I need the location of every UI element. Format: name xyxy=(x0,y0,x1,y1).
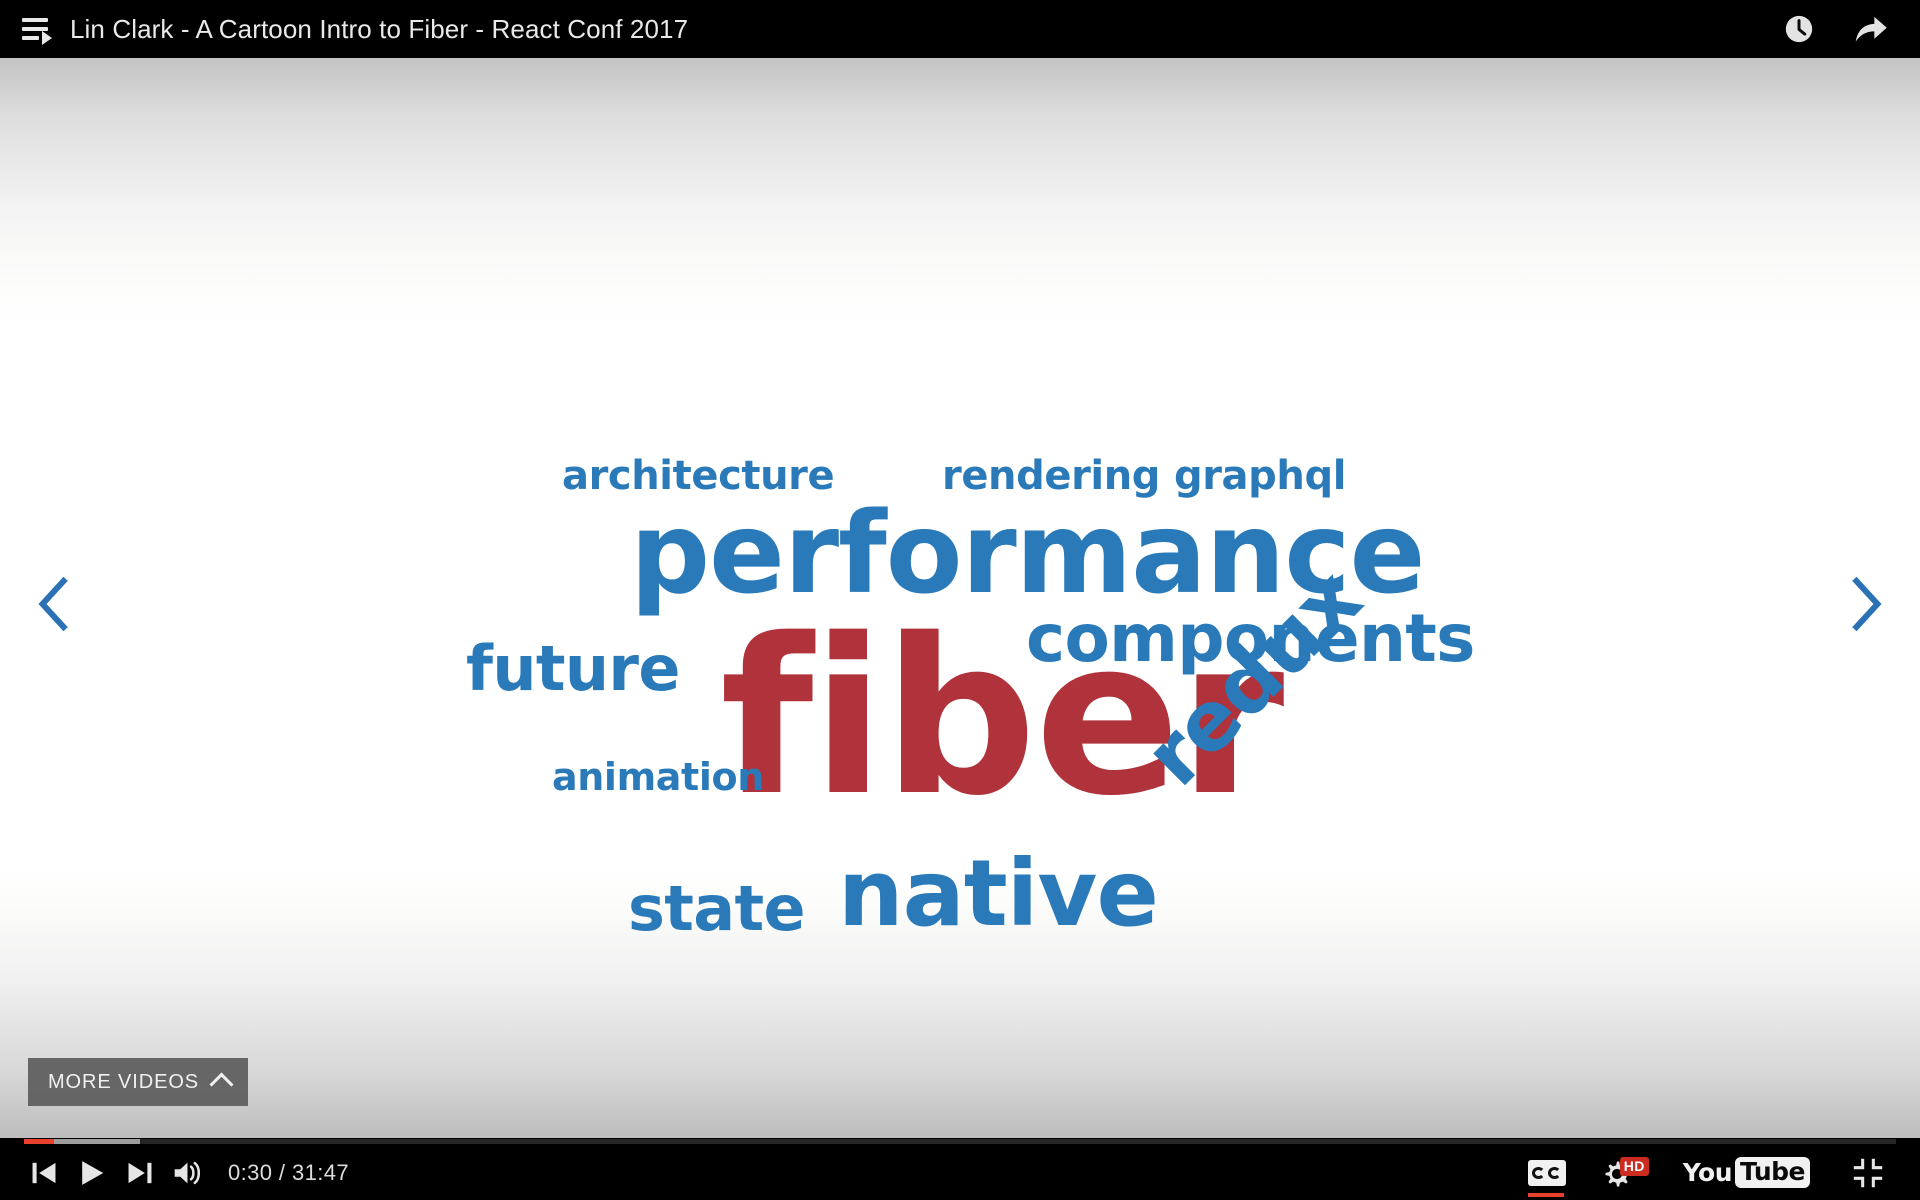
video-title[interactable]: Lin Clark - A Cartoon Intro to Fiber - R… xyxy=(70,14,688,45)
next-video-arrow[interactable] xyxy=(1830,568,1902,640)
next-button[interactable] xyxy=(116,1150,164,1196)
clock-icon xyxy=(1782,12,1816,46)
chevron-left-icon xyxy=(31,575,77,633)
more-videos-button[interactable]: MORE VIDEOS xyxy=(28,1058,248,1106)
volume-up-icon xyxy=(172,1159,204,1187)
player-title-bar: Lin Clark - A Cartoon Intro to Fiber - R… xyxy=(0,0,1920,58)
exit-fullscreen-button[interactable] xyxy=(1844,1150,1892,1196)
volume-button[interactable] xyxy=(164,1150,212,1196)
youtube-logo-button[interactable]: You Tube xyxy=(1683,1157,1810,1188)
closed-captions-icon xyxy=(1528,1160,1566,1186)
skip-previous-icon xyxy=(30,1160,58,1186)
chevron-right-icon xyxy=(1843,575,1889,633)
play-button[interactable] xyxy=(68,1150,116,1196)
video-stage[interactable]: architecturerenderinggraphqlperformancec… xyxy=(0,58,1920,1138)
play-icon xyxy=(77,1159,107,1187)
playlist-icon-bar xyxy=(22,36,39,40)
control-left-group: 0:30 / 31:47 xyxy=(0,1150,1527,1196)
quality-hd-badge: HD xyxy=(1620,1157,1649,1176)
playlist-icon-play-triangle xyxy=(42,31,52,45)
share-button[interactable] xyxy=(1850,8,1892,50)
captions-active-underline xyxy=(1528,1193,1564,1197)
more-videos-label: MORE VIDEOS xyxy=(48,1071,199,1094)
chevron-up-icon xyxy=(210,1072,234,1096)
skip-next-icon xyxy=(126,1160,154,1186)
playlist-icon[interactable] xyxy=(22,16,52,42)
previous-button[interactable] xyxy=(20,1150,68,1196)
exit-fullscreen-icon xyxy=(1852,1157,1884,1189)
time-display: 0:30 / 31:47 xyxy=(228,1160,349,1186)
progress-played xyxy=(24,1139,54,1144)
previous-video-arrow[interactable] xyxy=(18,568,90,640)
progress-track xyxy=(24,1139,1896,1144)
cc-glyph-c2 xyxy=(1548,1167,1561,1179)
captions-button[interactable] xyxy=(1527,1156,1567,1190)
watch-later-button[interactable] xyxy=(1778,8,1820,50)
player-control-bar: 0:30 / 31:47 HD You xyxy=(0,1138,1920,1200)
youtube-logo-tube: Tube xyxy=(1735,1157,1810,1188)
youtube-logo-you: You xyxy=(1683,1158,1732,1187)
share-arrow-icon xyxy=(1853,13,1889,45)
settings-button[interactable]: HD xyxy=(1601,1155,1649,1191)
word-cloud-word: native xyxy=(838,848,1158,940)
word-cloud-word: future xyxy=(466,638,680,700)
control-row: 0:30 / 31:47 HD You xyxy=(0,1145,1920,1200)
control-right-group: HD You Tube xyxy=(1527,1150,1920,1196)
word-cloud-word: state xyxy=(628,878,805,940)
youtube-video-player: architecturerenderinggraphqlperformancec… xyxy=(0,0,1920,1200)
title-bar-left: Lin Clark - A Cartoon Intro to Fiber - R… xyxy=(0,14,1778,45)
title-bar-actions xyxy=(1778,8,1892,50)
word-cloud-frame: architecturerenderinggraphqlperformancec… xyxy=(0,58,1920,1138)
word-cloud-word: animation xyxy=(552,758,764,796)
playlist-icon-bar xyxy=(22,18,48,22)
cc-glyph-c1 xyxy=(1532,1167,1545,1179)
progress-bar[interactable] xyxy=(0,1138,1920,1145)
